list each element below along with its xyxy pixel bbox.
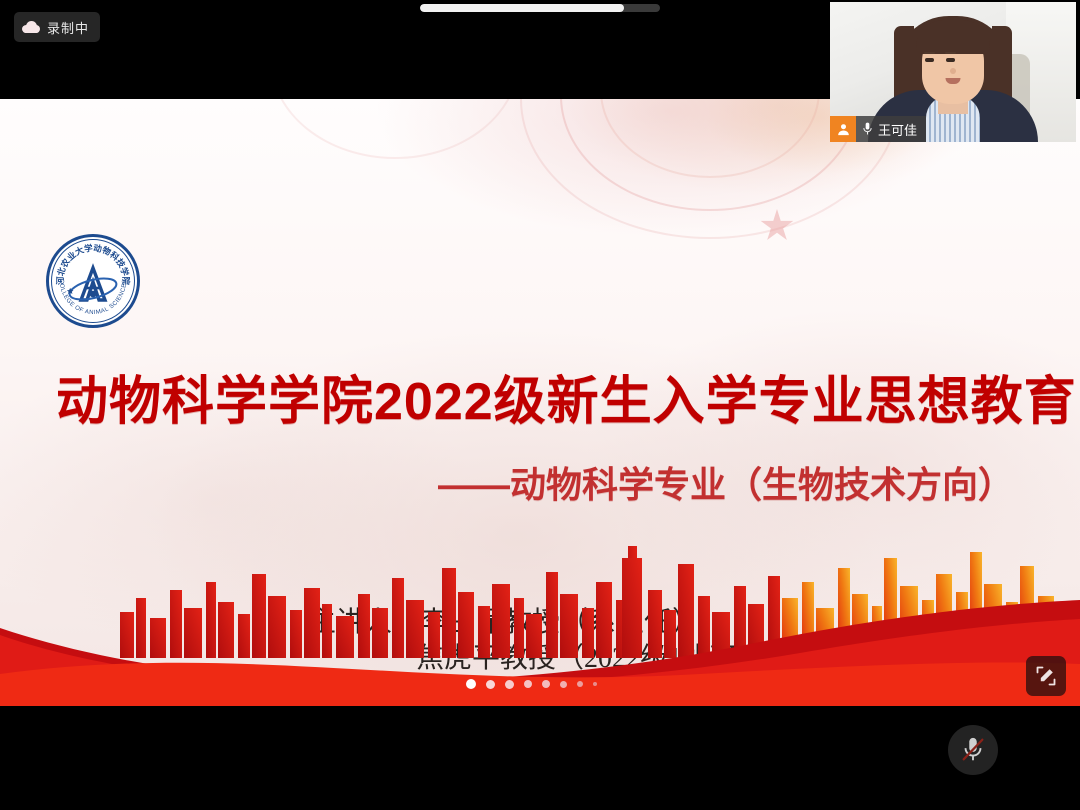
participant-name-label: 王可佳 xyxy=(878,120,917,139)
webcam-nose xyxy=(950,68,956,74)
scrollbar-thumb[interactable] xyxy=(420,4,624,12)
mute-microphone-button[interactable] xyxy=(948,725,998,775)
microphone-icon xyxy=(862,122,873,136)
webcam-eye-right xyxy=(946,58,955,62)
presentation-slide[interactable]: 河北农业大学动物科技学院 COLLEGE OF ANIMAL SCIENCES … xyxy=(0,99,1080,706)
annotation-tool-button[interactable] xyxy=(1026,656,1066,696)
slide-title: 动物科学学院2022级新生入学专业思想教育 xyxy=(56,373,1024,431)
college-logo: 河北农业大学动物科技学院 COLLEGE OF ANIMAL SCIENCES xyxy=(46,234,140,328)
recording-badge: 录制中 xyxy=(14,12,100,42)
webcam-pip-panel[interactable]: 王可佳 xyxy=(830,2,1076,142)
webcam-brow-right xyxy=(945,52,956,54)
webcam-brow-left xyxy=(924,52,935,54)
person-icon xyxy=(830,116,856,142)
pencil-icon xyxy=(1034,664,1058,688)
decorative-dots xyxy=(466,679,597,689)
webcam-eye-left xyxy=(925,58,934,62)
screen-share-meeting-view: 录制中 xyxy=(0,0,1080,810)
red-wave-front xyxy=(0,634,1080,706)
progress-scrollbar[interactable] xyxy=(420,4,660,12)
slide-subtitle: ——动物科学专业（生物技术方向） xyxy=(438,456,1014,508)
recording-label: 录制中 xyxy=(47,18,89,37)
participant-name-wrap: 王可佳 xyxy=(856,116,926,142)
participant-name-badge: 王可佳 xyxy=(830,116,926,142)
cloud-icon xyxy=(22,21,40,33)
webcam-hair-top xyxy=(916,20,990,54)
microphone-muted-icon xyxy=(960,736,986,764)
